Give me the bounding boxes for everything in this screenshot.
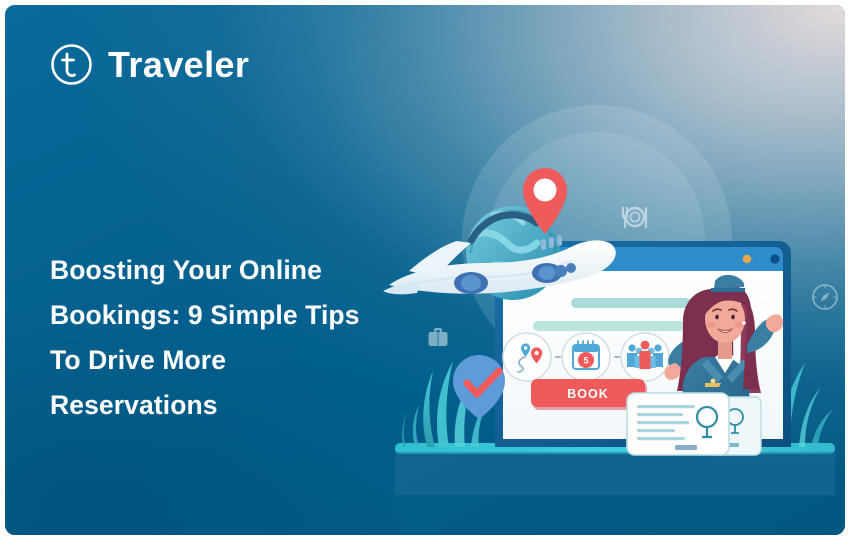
browser-dots [743, 254, 780, 263]
page-title: Boosting Your Online Bookings: 9 Simple … [50, 248, 360, 428]
desk-surface [395, 443, 835, 495]
banner-card: 5 [5, 5, 845, 535]
circle-t-icon [50, 43, 93, 86]
online-booking-illustration: 5 [375, 95, 845, 495]
suitcase-icon [426, 325, 450, 349]
calendar-day-number: 5 [583, 356, 588, 366]
step-icon-calendar: 5 [562, 333, 610, 381]
brand-name: Traveler [108, 47, 249, 83]
compass-icon [811, 283, 839, 311]
book-button-label: BOOK [567, 387, 609, 401]
boarding-pass-card [622, 393, 761, 455]
dining-icon [618, 200, 652, 234]
step-icon-route-pins [503, 333, 551, 381]
promo-banner: 5 [0, 0, 850, 540]
brand-logo[interactable]: Traveler [50, 43, 249, 86]
step-icon-group-people [621, 333, 669, 381]
